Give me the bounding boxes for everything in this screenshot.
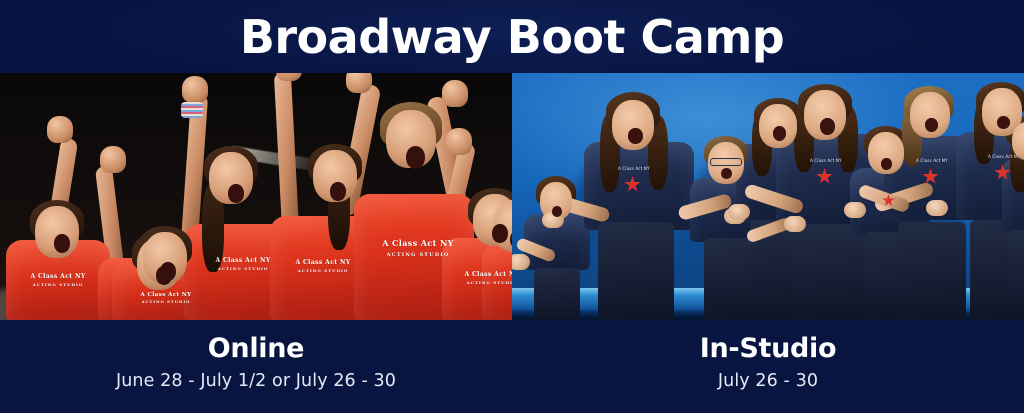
shirt-logo-line1: A Class Act NY bbox=[382, 238, 454, 248]
shirt-logo-line1: A Class Act NY bbox=[810, 158, 842, 163]
wrist-bracelets bbox=[181, 102, 203, 118]
photo-strip: A Class Act NY ACTING STUDIO bbox=[0, 73, 1024, 320]
captions-row: Online June 28 - July 1/2 or July 26 - 3… bbox=[0, 320, 1024, 413]
caption-dates-online: June 28 - July 1/2 or July 26 - 30 bbox=[116, 371, 396, 392]
caption-dates-instudio: July 26 - 30 bbox=[718, 371, 818, 392]
eyeglasses-icon bbox=[710, 158, 742, 166]
instudio-photo: A Class Act NY bbox=[512, 73, 1024, 320]
title-bar: Broadway Boot Camp bbox=[0, 0, 1024, 73]
caption-online: Online June 28 - July 1/2 or July 26 - 3… bbox=[0, 320, 512, 413]
caption-title-online: Online bbox=[208, 333, 304, 364]
shirt-logo-line1: A Class Act NY bbox=[30, 273, 85, 280]
shirt-logo-line2: ACTING STUDIO bbox=[218, 266, 269, 271]
shirt-logo-line2: ACTING STUDIO bbox=[33, 282, 84, 287]
shirt-logo-line2: ACTING STUDIO bbox=[467, 280, 512, 285]
shirt-logo-line1: A Class Act NY bbox=[916, 158, 948, 163]
caption-instudio: In-Studio July 26 - 30 bbox=[512, 320, 1024, 413]
shirt-logo-line1: A Class Act NY bbox=[295, 259, 350, 266]
shirt-logo-line1: A Class Act NY bbox=[215, 257, 270, 264]
performer: A Class Act NY bbox=[574, 84, 706, 320]
shirt-logo-line2: ACTING STUDIO bbox=[387, 252, 450, 258]
broadway-boot-camp-banner: Broadway Boot Camp A Class Act NY ACTING… bbox=[0, 0, 1024, 413]
shirt-logo-line1: A Class Act NY bbox=[141, 292, 192, 298]
online-photo: A Class Act NY ACTING STUDIO bbox=[0, 73, 512, 320]
shirt-logo-line1: A Class Act NY bbox=[618, 166, 650, 171]
caption-title-instudio: In-Studio bbox=[700, 333, 836, 364]
shirt-logo-line2: ACTING STUDIO bbox=[142, 299, 191, 304]
page-title: Broadway Boot Camp bbox=[240, 14, 784, 60]
shirt-logo-line1: A Class Act NY bbox=[464, 271, 512, 278]
shirt-logo-line2: ACTING STUDIO bbox=[298, 268, 349, 273]
